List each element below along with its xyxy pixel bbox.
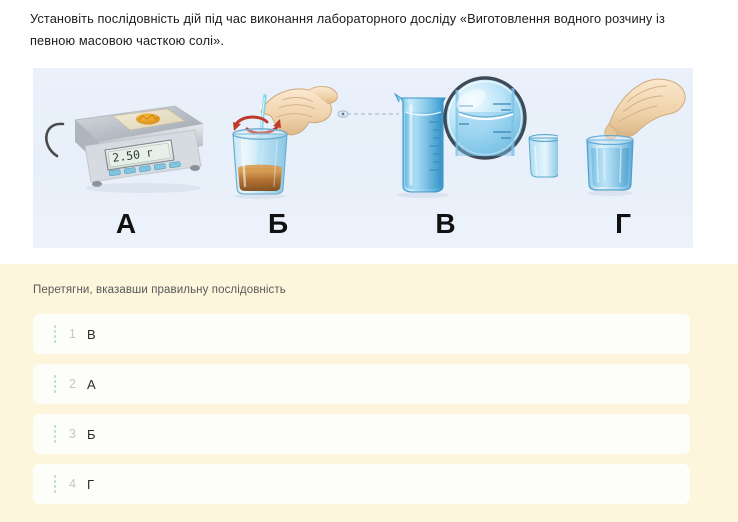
graduated-cylinder-icon <box>333 72 558 200</box>
pouring-salt-icon <box>553 72 693 200</box>
list-item[interactable]: 1 В <box>33 314 690 354</box>
answer-list: 1 В 2 А 3 Б 4 <box>33 314 690 514</box>
list-item-letter: В <box>87 327 96 342</box>
list-item-letter: Б <box>87 427 96 442</box>
list-item[interactable]: 4 Г <box>33 464 690 504</box>
figure-panel-item-g: Г <box>553 68 693 248</box>
question-page: Установіть послідовність дій під час вик… <box>0 0 738 522</box>
answer-area: Перетягни, вказавши правильну послідовні… <box>0 264 738 522</box>
figure-label-g: Г <box>553 208 693 240</box>
figure-panel-item-b: Б <box>213 68 343 248</box>
page-title: Установіть послідовність дій під час вик… <box>30 8 702 52</box>
drag-dots-icon[interactable] <box>50 425 60 443</box>
drag-dots-icon[interactable] <box>50 475 60 493</box>
list-item-index: 1 <box>69 327 89 341</box>
list-item[interactable]: 3 Б <box>33 414 690 454</box>
digital-balance-icon: 2.50 г <box>35 72 217 200</box>
list-item-index: 3 <box>69 427 89 441</box>
figure-label-b: Б <box>213 208 343 240</box>
list-item[interactable]: 2 А <box>33 364 690 404</box>
stirring-rod-icon <box>213 72 343 200</box>
figure-panel-item-a: 2.50 г А <box>35 68 217 248</box>
list-item-index: 2 <box>69 377 89 391</box>
figure-panel: 2.50 г А <box>33 68 693 248</box>
list-item-letter: А <box>87 377 96 392</box>
answer-hint: Перетягни, вказавши правильну послідовні… <box>33 284 286 296</box>
list-item-letter: Г <box>87 477 94 492</box>
figure-panel-item-v: В <box>333 68 558 248</box>
figure-label-a: А <box>35 208 217 240</box>
figure-label-v: В <box>333 208 558 240</box>
list-item-index: 4 <box>69 477 89 491</box>
drag-dots-icon[interactable] <box>50 325 60 343</box>
drag-dots-icon[interactable] <box>50 375 60 393</box>
